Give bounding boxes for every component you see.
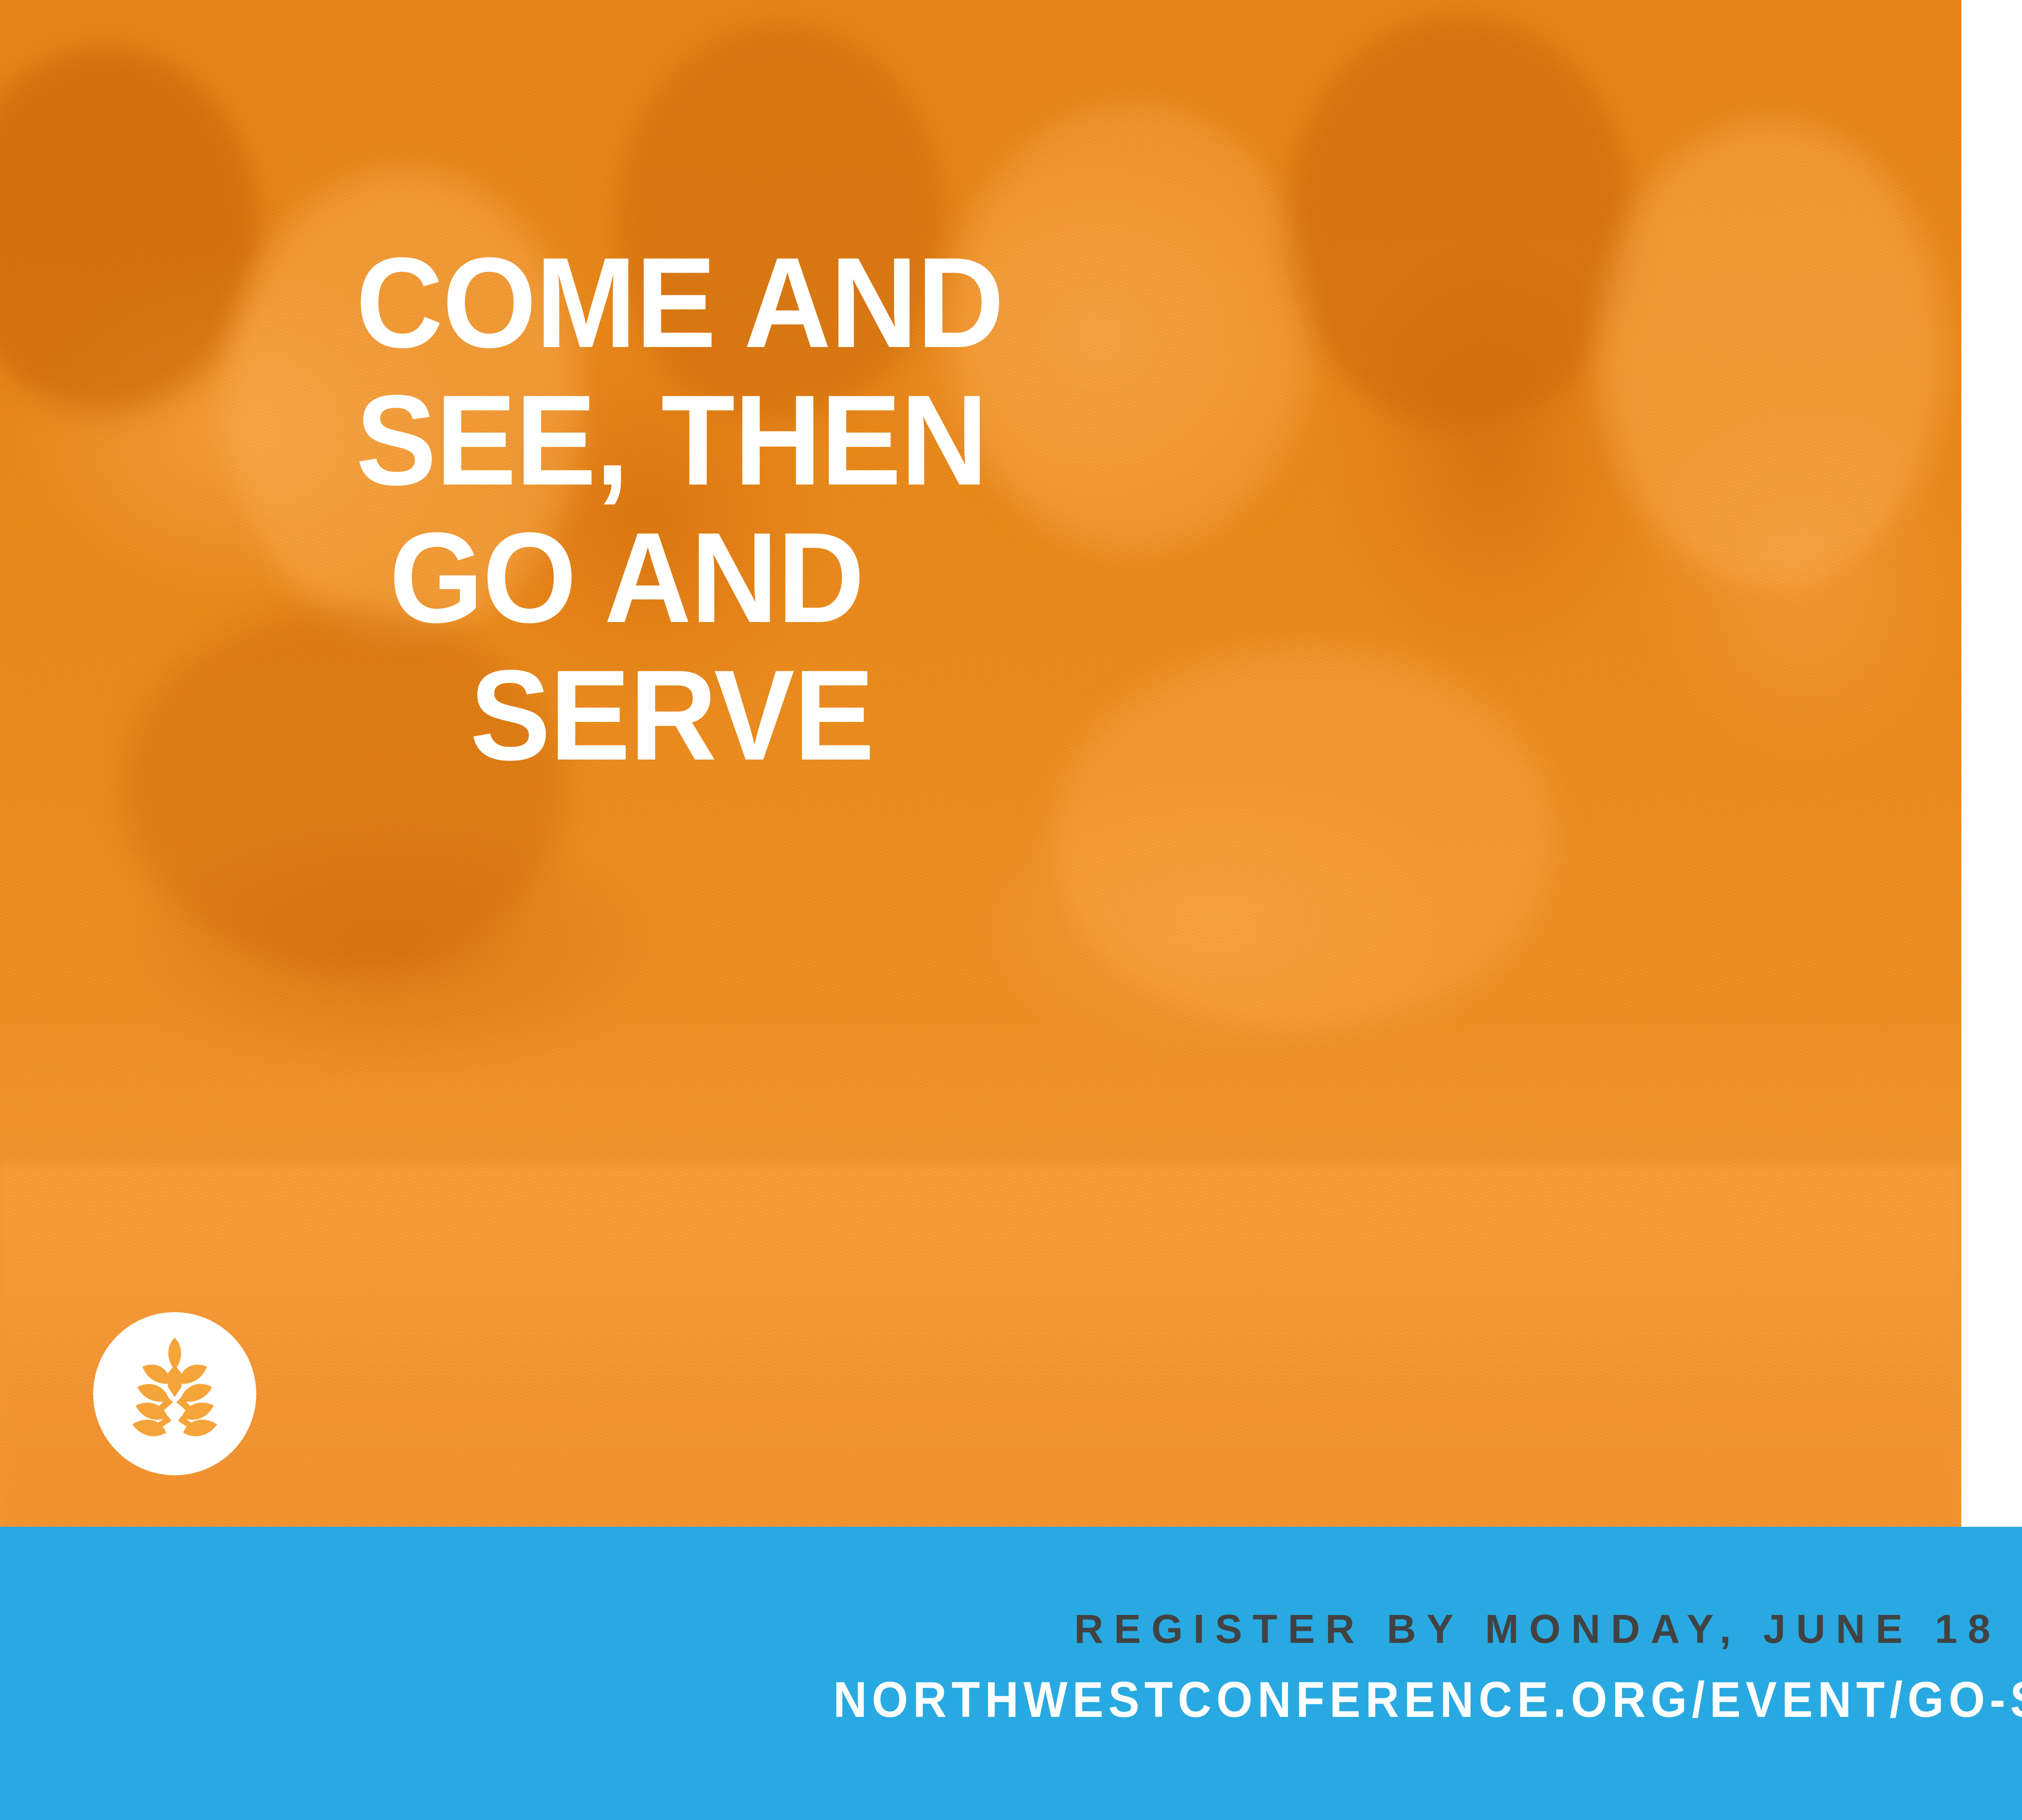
register-deadline-text: REGISTER BY MONDAY, JUNE 18 AT: bbox=[0, 1527, 2022, 1653]
page-title: COME AND SEE, THEN GO AND SERVE bbox=[356, 239, 1686, 789]
info-panel: GO Serve Thursday, June 21, 2018 10 a.m.… bbox=[1961, 0, 2022, 1527]
register-banner: REGISTER BY MONDAY, JUNE 18 AT: NORTHWES… bbox=[0, 1527, 2022, 1820]
headline-line-4: SERVE bbox=[470, 651, 1686, 780]
tree-in-circle-icon bbox=[90, 1309, 260, 1479]
headline-line-3: GO AND bbox=[389, 514, 1686, 642]
register-url-link[interactable]: NORTHWESTCONFERENCE.ORG/EVENT/GO-SERVE-2… bbox=[112, 1671, 2022, 1729]
hero-photo-panel: COME AND SEE, THEN GO AND SERVE bbox=[0, 0, 1961, 1527]
headline-line-2: SEE, THEN bbox=[356, 376, 1686, 505]
headline-line-1: COME AND bbox=[356, 239, 1686, 367]
